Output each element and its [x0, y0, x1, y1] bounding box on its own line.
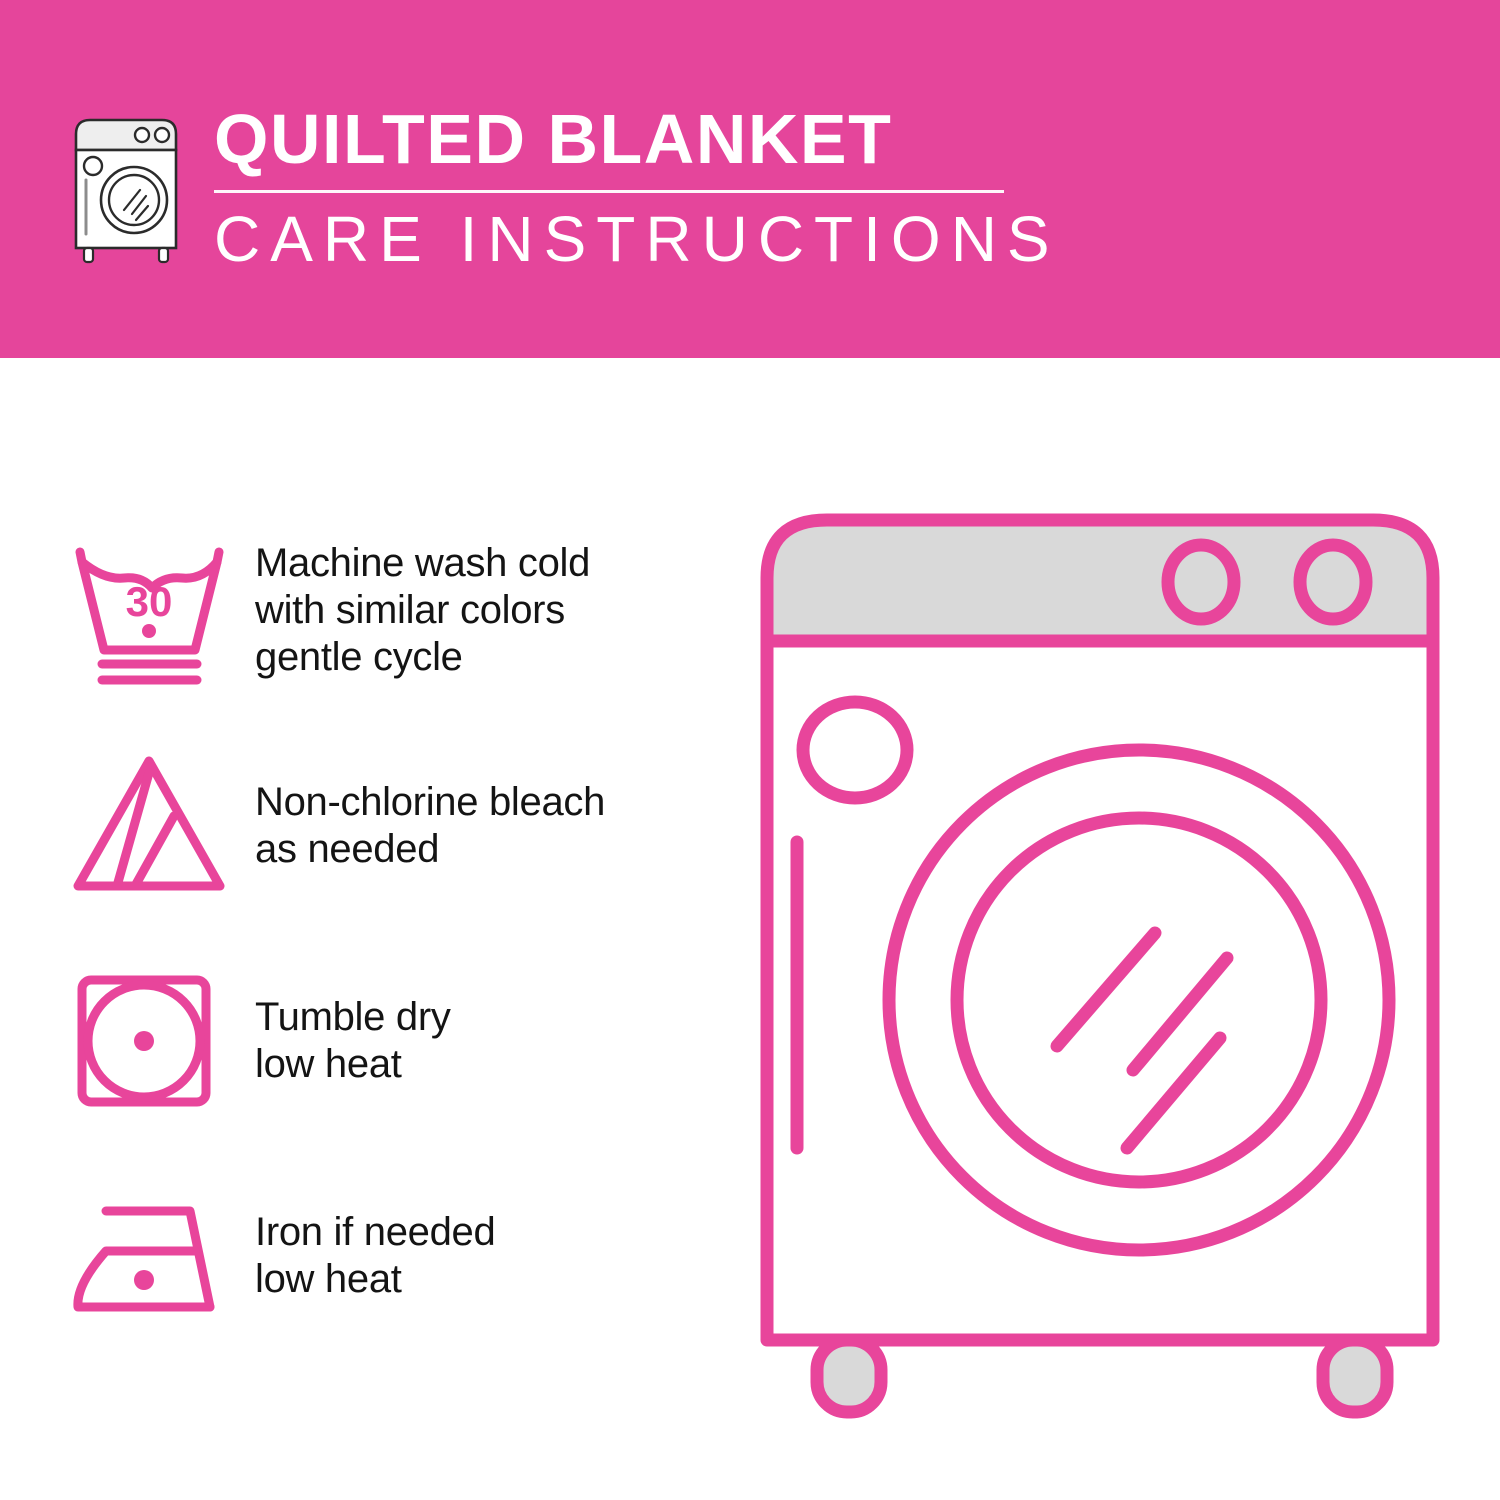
non-chlorine-bleach-triangle-icon — [62, 743, 237, 908]
page-subtitle: CARE INSTRUCTIONS — [212, 203, 1060, 275]
list-item: 30 Machine wash cold with similar colors… — [62, 503, 712, 718]
washing-machine-icon — [62, 112, 190, 272]
list-item: Tumble dry low heat — [62, 933, 712, 1148]
list-item-label: Tumble dry low heat — [255, 994, 451, 1088]
header-banner: QUILTED BLANKET CARE INSTRUCTIONS — [0, 0, 1500, 358]
list-item-label: Machine wash cold with similar colors ge… — [255, 540, 590, 681]
list-item-label: Iron if needed low heat — [255, 1209, 495, 1303]
wash-temperature-label: 30 — [126, 578, 173, 625]
tumble-dry-low-icon — [62, 958, 237, 1123]
front-load-washing-machine-illustration — [735, 478, 1465, 1428]
page-title: QUILTED BLANKET — [212, 100, 1060, 178]
care-instruction-list: 30 Machine wash cold with similar colors… — [62, 503, 712, 1363]
header-content: QUILTED BLANKET CARE INSTRUCTIONS — [62, 100, 1060, 275]
list-item-label: Non-chlorine bleach as needed — [255, 779, 605, 873]
machine-wash-30-gentle-icon: 30 — [62, 528, 237, 693]
header-title-group: QUILTED BLANKET CARE INSTRUCTIONS — [212, 100, 1060, 275]
iron-low-heat-icon — [62, 1173, 237, 1338]
list-item: Iron if needed low heat — [62, 1148, 712, 1363]
title-divider — [214, 190, 1004, 193]
list-item: Non-chlorine bleach as needed — [62, 718, 712, 933]
main-content: 30 Machine wash cold with similar colors… — [0, 358, 1500, 1500]
